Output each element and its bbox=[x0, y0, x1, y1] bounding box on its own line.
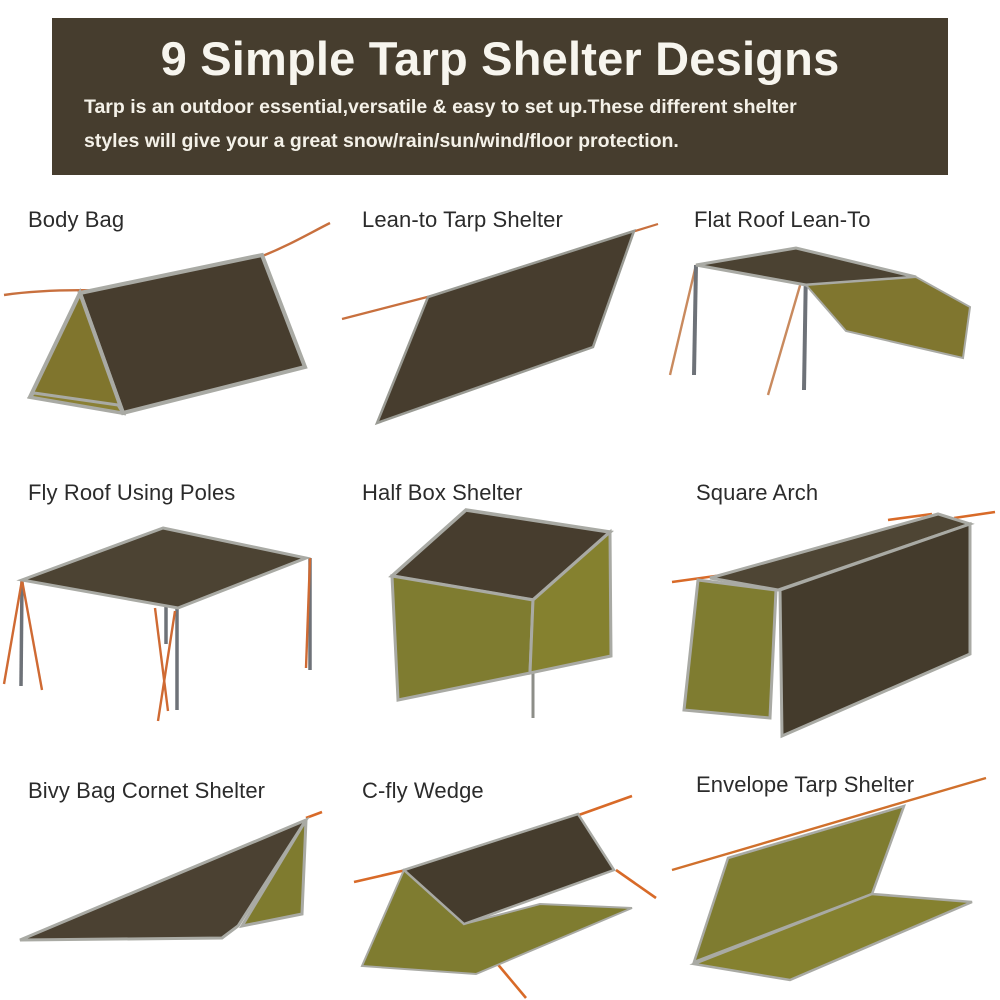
shelter-cell-fly-roof-using-poles: Fly Roof Using Poles bbox=[0, 468, 340, 738]
guyline-icon bbox=[576, 796, 632, 816]
shelter-illustration-lean-to-tarp-shelter bbox=[340, 195, 680, 445]
header-banner: 9 Simple Tarp Shelter Designs Tarp is an… bbox=[52, 18, 948, 175]
shelter-illustration-half-box-shelter bbox=[340, 468, 680, 738]
shelter-cell-half-box-shelter: Half Box Shelter bbox=[340, 468, 680, 738]
guyline-icon bbox=[670, 265, 696, 375]
guyline-icon bbox=[4, 580, 22, 684]
shelter-cell-body-bag: Body Bag bbox=[0, 195, 340, 445]
shelter-cell-envelope-tarp-shelter: Envelope Tarp Shelter bbox=[670, 762, 1000, 1000]
tarp-panel-dark bbox=[377, 231, 634, 423]
guyline-icon bbox=[616, 870, 656, 898]
shelter-illustration-body-bag bbox=[0, 195, 340, 445]
guyline-icon bbox=[260, 223, 330, 257]
shelter-illustration-bivy-bag-cornet-shelter bbox=[0, 762, 340, 1000]
tarp-roof-dark bbox=[22, 528, 306, 608]
banner-subtitle-line-1: Tarp is an outdoor essential,versatile &… bbox=[84, 92, 916, 122]
guyline-icon bbox=[632, 224, 658, 232]
guyline-icon bbox=[954, 512, 995, 518]
tarp-wall-olive bbox=[684, 580, 776, 718]
pole-icon bbox=[694, 265, 696, 375]
shelter-cell-square-arch: Square Arch bbox=[670, 468, 1000, 738]
shelter-illustration-square-arch bbox=[670, 468, 1000, 738]
pole-icon bbox=[21, 580, 22, 686]
shelter-cell-lean-to-tarp-shelter: Lean-to Tarp Shelter bbox=[340, 195, 680, 445]
tarp-wall-olive bbox=[806, 277, 970, 358]
banner-subtitle-line-2: styles will give your a great snow/rain/… bbox=[84, 126, 916, 156]
guyline-icon bbox=[354, 870, 406, 882]
shelter-illustration-fly-roof-using-poles bbox=[0, 468, 340, 738]
guyline-icon bbox=[22, 580, 42, 690]
shelter-cell-c-fly-wedge: C-fly Wedge bbox=[340, 762, 680, 1000]
poster-root: 9 Simple Tarp Shelter Designs Tarp is an… bbox=[0, 0, 1000, 1000]
page-title: 9 Simple Tarp Shelter Designs bbox=[70, 30, 930, 88]
shelter-illustration-c-fly-wedge bbox=[340, 762, 680, 1000]
guyline-icon bbox=[306, 812, 322, 818]
shelter-illustration-flat-roof-lean-to bbox=[670, 195, 1000, 445]
shelter-cell-bivy-bag-cornet-shelter: Bivy Bag Cornet Shelter bbox=[0, 762, 340, 1000]
shelter-illustration-envelope-tarp-shelter bbox=[670, 762, 1000, 1000]
shelter-cell-flat-roof-lean-to: Flat Roof Lean-To bbox=[670, 195, 1000, 445]
